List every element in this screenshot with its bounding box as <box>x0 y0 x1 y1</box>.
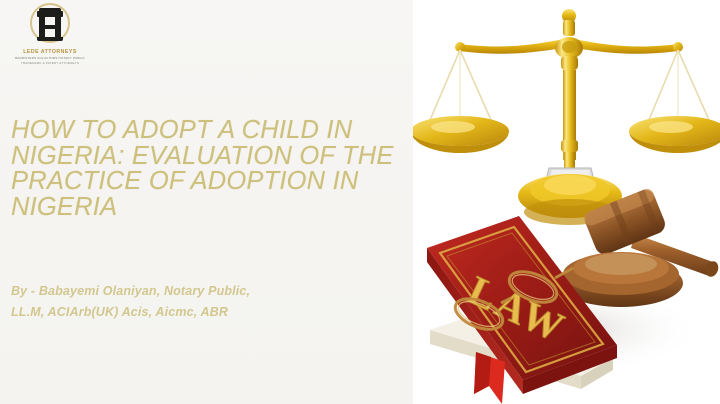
logo-tagline-line2: TRADEMARK & PATENT ATTORNEYS <box>13 61 87 65</box>
logo-firm-name: LEDE ATTORNEYS <box>13 49 87 55</box>
law-firm-logo: LEDE ATTORNEYS BARRISTERS SOLICITORS NOT… <box>13 2 87 68</box>
title-panel: LEDE ATTORNEYS BARRISTERS SOLICITORS NOT… <box>0 0 415 404</box>
slide-byline: By - Babayemi Olaniyan, Notary Public, L… <box>11 281 401 323</box>
legal-imagery-photo: LAW <box>413 0 720 404</box>
presentation-slide: LEDE ATTORNEYS BARRISTERS SOLICITORS NOT… <box>0 0 720 404</box>
logo-crossbar-shape <box>43 25 57 29</box>
pillar-monogram-icon <box>26 2 74 48</box>
logo-tagline-line1: BARRISTERS SOLICITORS NOTARY PUBLIC <box>13 56 87 60</box>
slide-title: HOW TO ADOPT A CHILD IN NIGERIA: EVALUAT… <box>11 118 411 220</box>
logo-base-shape <box>37 37 63 41</box>
